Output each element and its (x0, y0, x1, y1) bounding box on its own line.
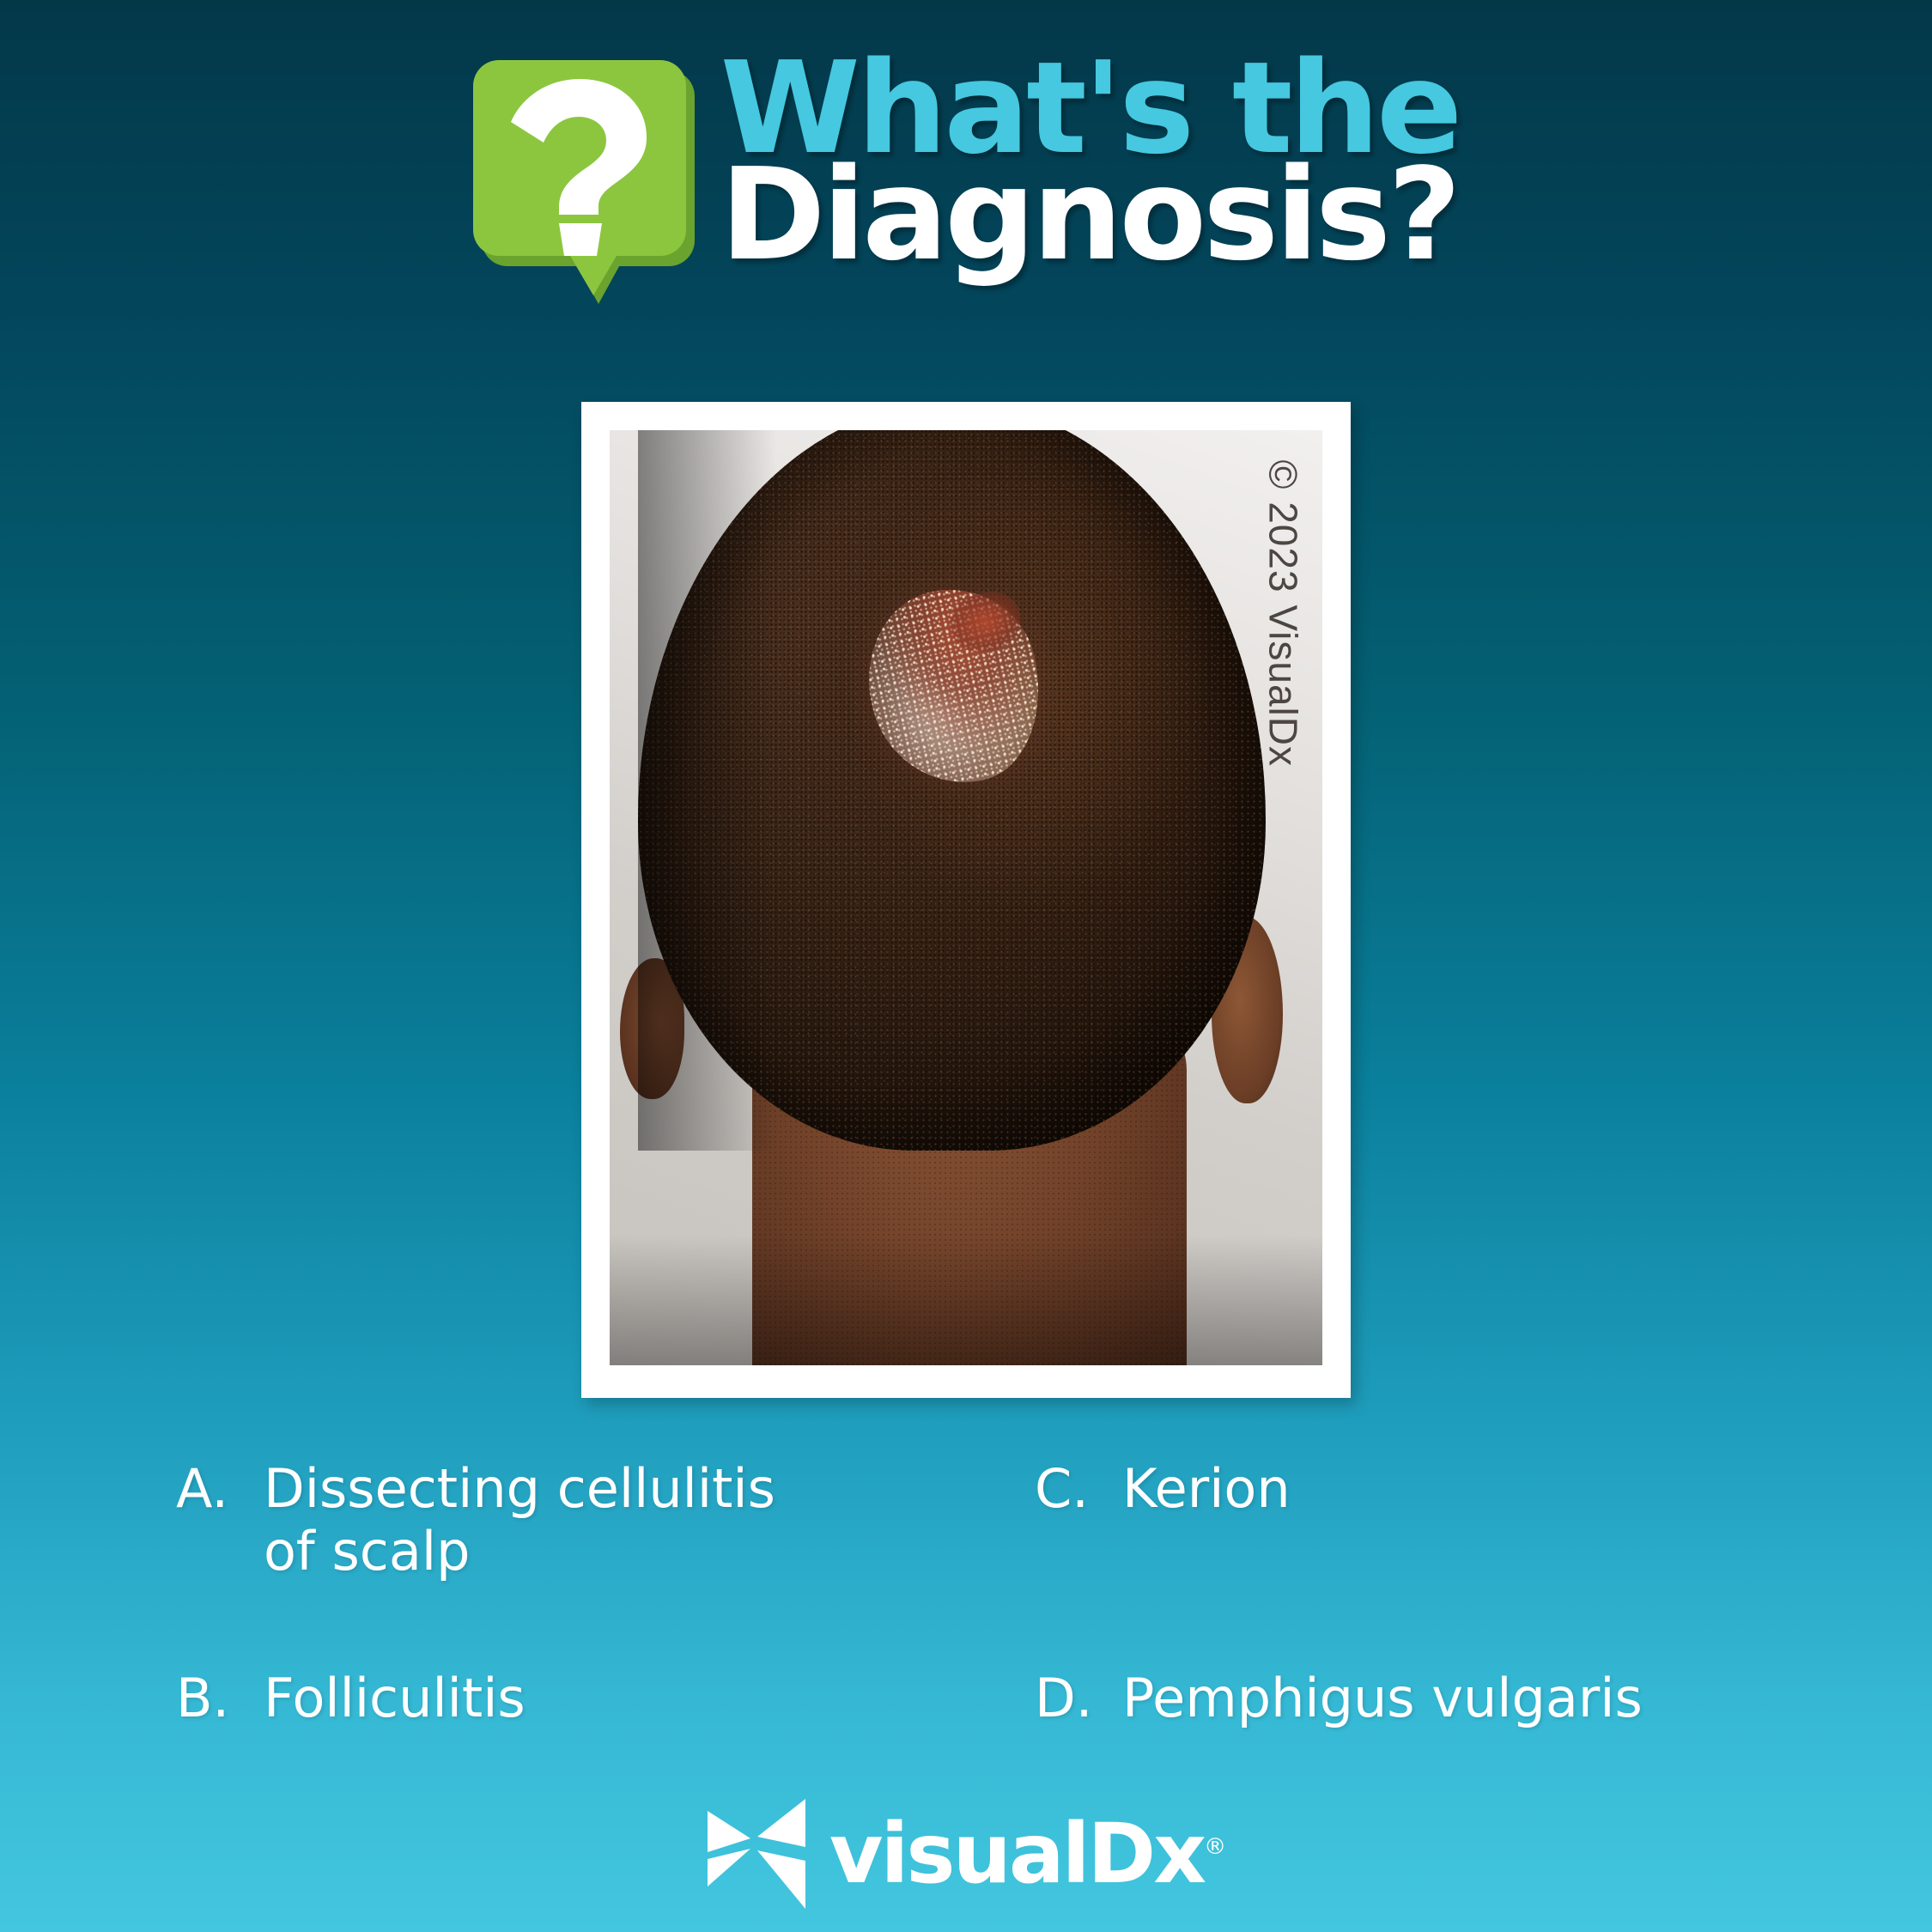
visualdx-wordmark: visualDx® (829, 1806, 1226, 1902)
option-a-label: Dissecting cellulitis of scalp (264, 1458, 811, 1583)
option-d-label: Pemphigus vulgaris (1122, 1668, 1807, 1730)
answer-option-c[interactable]: C. Kerion (1035, 1458, 1807, 1521)
header-inner: What's the Diagnosis? (473, 50, 1460, 275)
registered-mark: ® (1204, 1834, 1226, 1860)
footer-brand: visualDx® (0, 1799, 1932, 1909)
header-banner: What's the Diagnosis? (0, 50, 1932, 333)
brand-text: visualDx (829, 1806, 1204, 1902)
title-line-two: Diagnosis? (720, 156, 1460, 275)
copyright-watermark: © 2023 VisualDx (1261, 460, 1307, 767)
photo-left-shadow (638, 430, 776, 1151)
clinical-photo: © 2023 VisualDx (610, 430, 1322, 1365)
question-mark-icon (473, 60, 695, 275)
answer-option-b[interactable]: B. Folliculitis (176, 1668, 811, 1730)
option-c-label: Kerion (1122, 1458, 1807, 1521)
head-with-hair (638, 430, 1265, 1151)
page-title: What's the Diagnosis? (720, 50, 1460, 274)
clinical-photo-frame: © 2023 VisualDx (581, 402, 1351, 1398)
option-b-letter: B. (176, 1668, 240, 1730)
option-d-letter: D. (1035, 1668, 1098, 1730)
question-glyph-icon (473, 60, 686, 256)
answer-options: A. Dissecting cellulitis of scalp B. Fol… (0, 1451, 1932, 1769)
option-b-label: Folliculitis (264, 1668, 811, 1730)
visualdx-butterfly-logo-icon (706, 1799, 807, 1909)
option-c-letter: C. (1035, 1458, 1098, 1521)
answer-option-d[interactable]: D. Pemphigus vulgaris (1035, 1668, 1807, 1730)
photo-bottom-shadow (610, 1235, 1322, 1365)
answer-option-a[interactable]: A. Dissecting cellulitis of scalp (176, 1458, 811, 1583)
option-a-letter: A. (176, 1458, 240, 1521)
